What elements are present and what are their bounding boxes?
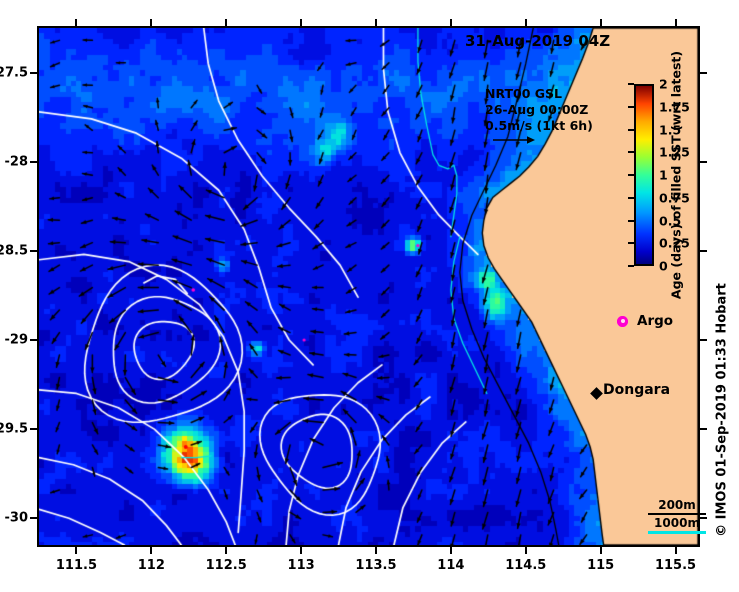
- y-axis-tick: [30, 517, 37, 519]
- x-axis-tick: [600, 547, 602, 554]
- sst-age-heatmap-canvas[interactable]: [39, 28, 698, 545]
- colorbar-tick: [628, 106, 634, 108]
- colorbar-tick: [628, 174, 634, 176]
- y-axis-tick-right: [700, 517, 707, 519]
- colorbar-tick: [628, 242, 634, 244]
- colorbar-title: Age (days) of filled SST (wrt latest): [669, 51, 684, 299]
- current-source-label: NRT00 GSL: [485, 86, 593, 102]
- x-axis-tick-label: 113: [288, 558, 315, 573]
- x-axis-tick: [525, 547, 527, 554]
- y-axis-tick-label: -28: [5, 154, 29, 169]
- y-axis-tick-right: [700, 161, 707, 163]
- x-axis-tick-label: 115: [587, 558, 614, 573]
- y-axis-tick-right: [700, 428, 707, 430]
- y-axis-tick-label: -29: [5, 332, 29, 347]
- colorbar-tick: [628, 197, 634, 199]
- colorbar-tick-label: 2: [659, 77, 668, 92]
- colorbar-tick: [628, 83, 634, 85]
- x-axis-tick-label: 112: [138, 558, 165, 573]
- y-axis-tick: [30, 72, 37, 74]
- x-axis-tick: [450, 547, 452, 554]
- vector-scale-label: 0.5m/s (1kt 6h): [485, 118, 593, 134]
- dongara-label: Dongara: [603, 382, 670, 398]
- y-axis-tick-label: -30: [5, 511, 29, 526]
- map-figure: 31-Aug-2019 04Z NRT00 GSL 26-Aug 00:00Z …: [0, 0, 739, 592]
- x-axis-tick-top: [375, 19, 377, 26]
- colorbar-gradient: [634, 84, 654, 266]
- colorbar-tick: [628, 265, 634, 267]
- y-axis-tick: [30, 250, 37, 252]
- x-axis-tick-top: [675, 19, 677, 26]
- x-axis-tick-top: [150, 19, 152, 26]
- x-axis-tick-top: [300, 19, 302, 26]
- y-axis-tick-right: [700, 72, 707, 74]
- x-axis-tick-top: [600, 19, 602, 26]
- y-axis-tick-right: [700, 339, 707, 341]
- x-axis-tick: [150, 547, 152, 554]
- x-axis-tick-label: 115.5: [655, 558, 696, 573]
- bathymetry-depth-key: 200m 1000m: [648, 498, 706, 534]
- x-axis-tick-top: [225, 19, 227, 26]
- depth-1000m-line: [648, 531, 706, 534]
- legend-item-argo: Argo: [617, 313, 673, 329]
- x-axis-tick-top: [450, 19, 452, 26]
- x-axis-tick-top: [75, 19, 77, 26]
- x-axis-tick: [75, 547, 77, 554]
- colorbar-tick: [628, 151, 634, 153]
- depth-1000m-label: 1000m: [648, 516, 706, 530]
- copyright-label: © IMOS 01-Sep-2019 01:33 Hobart: [715, 283, 730, 537]
- map-title: 31-Aug-2019 04Z: [465, 32, 610, 50]
- y-axis-tick-label: -27.5: [0, 65, 28, 80]
- current-vector-annotation: NRT00 GSL 26-Aug 00:00Z 0.5m/s (1kt 6h): [485, 86, 593, 134]
- x-axis-tick-label: 113.5: [355, 558, 396, 573]
- x-axis-tick-label: 114: [437, 558, 464, 573]
- x-axis-tick: [225, 547, 227, 554]
- y-axis-tick-label: -28.5: [0, 243, 28, 258]
- current-time-label: 26-Aug 00:00Z: [485, 102, 593, 118]
- y-axis-tick-right: [700, 250, 707, 252]
- colorbar-tick: [628, 129, 634, 131]
- map-plot-area[interactable]: [37, 26, 700, 547]
- x-axis-tick: [300, 547, 302, 554]
- argo-label: Argo: [637, 313, 673, 329]
- x-axis-tick: [675, 547, 677, 554]
- x-axis-tick-label: 111.5: [56, 558, 97, 573]
- colorbar-tick-label: 0: [659, 259, 668, 274]
- colorbar: 00.250.50.7511.251.51.752: [634, 84, 654, 266]
- y-axis-tick: [30, 161, 37, 163]
- x-axis-tick: [375, 547, 377, 554]
- depth-200m-label: 200m: [648, 498, 706, 512]
- colorbar-tick: [628, 220, 634, 222]
- x-axis-tick-label: 112.5: [206, 558, 247, 573]
- y-axis-tick: [30, 428, 37, 430]
- x-axis-tick-top: [525, 19, 527, 26]
- y-axis-tick-label: -29.5: [0, 422, 28, 437]
- colorbar-tick-label: 1: [659, 168, 668, 183]
- y-axis-tick: [30, 339, 37, 341]
- depth-200m-line: [648, 513, 706, 515]
- vector-scale-arrow-icon: [492, 134, 536, 146]
- argo-marker-icon: [617, 316, 628, 327]
- x-axis-tick-label: 114.5: [505, 558, 546, 573]
